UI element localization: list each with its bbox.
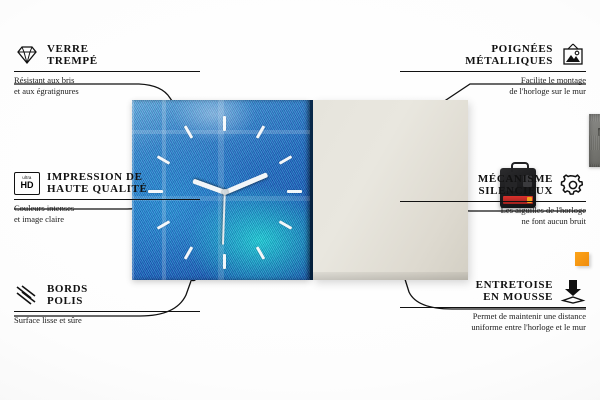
callout-title-line1: BORDS [47,283,88,295]
callout-subtitle-line1: Facilite le montage [521,75,586,85]
callout-subtitle-line2: et aux égratignures [14,86,79,96]
clock-center-cap [222,189,228,195]
polished-edges-icon [14,282,40,308]
callout-poignees-metalliques: POIGNÉES MÉTALLIQUES Facilite le montage… [400,42,586,96]
callout-title-line1: MÉCANISME [478,173,553,185]
callout-title-line1: ENTRETOISE [476,279,553,291]
hour-marker [157,155,171,165]
callout-title-line2: EN MOUSSE [483,291,553,303]
hour-marker [184,125,194,139]
hour-marker [223,116,226,131]
hour-marker [279,155,293,165]
callout-title-line1: VERRE [47,43,89,55]
callout-bords-polis: BORDS POLIS Surface lisse et sûre [14,282,200,326]
ultra-hd-icon-big-label: HD [21,181,34,190]
clock-minute-hand [224,172,268,195]
diamond-icon [14,42,40,68]
callout-title-line2: MÉTALLIQUES [465,55,553,67]
product-feature-infographic: VERRE TREMPÉ Résistant aux bris et aux é… [0,0,600,400]
callout-title-line2: TREMPÉ [47,55,98,67]
callout-subtitle-line1: Les aiguilles de l'horloge [501,205,586,215]
callout-divider [14,311,200,312]
hour-marker [256,246,266,260]
callout-title-line1: POIGNÉES [491,43,553,55]
callout-subtitle-line1: Surface lisse et sûre [14,315,82,325]
callout-title-line1: IMPRESSION DE [47,171,143,183]
callout-title-line2: POLIS [47,295,83,307]
gear-icon [560,172,586,198]
callout-title-line2: SILENCIEUX [479,185,553,197]
callout-subtitle-line2: et image claire [14,214,64,224]
callout-subtitle-line2: ne font aucun bruit [522,216,586,226]
callout-impression-haute-qualite: ultra HD IMPRESSION DE HAUTE QUALITÉ Cou… [14,170,200,224]
metal-hanging-bracket [589,114,600,167]
ultra-hd-icon: ultra HD [14,170,40,196]
callout-title-line2: HAUTE QUALITÉ [47,183,147,195]
callout-entretoise-en-mousse: ENTRETOISE EN MOUSSE Permet de maintenir… [400,278,586,332]
callout-subtitle-line2: uniforme entre l'horloge et le mur [471,322,586,332]
callout-subtitle-line1: Permet de maintenir une distance [473,311,586,321]
callout-divider [14,71,200,72]
foam-spacer-arrow-icon [560,278,586,304]
picture-hanger-icon [560,42,586,68]
callout-mecanisme-silencieux: MÉCANISME SILENCIEUX Les aiguilles de l'… [400,172,586,226]
callout-divider [400,71,586,72]
mechanism-hanger [511,162,529,172]
callout-subtitle-line1: Résistant aux bris [14,75,74,85]
hour-marker [256,125,266,139]
hour-marker [287,190,302,193]
clock-second-hand [222,193,225,245]
callout-divider [400,307,586,308]
callout-divider [400,201,586,202]
callout-divider [14,199,200,200]
callout-subtitle-line2: de l'horloge sur le mur [509,86,586,96]
hour-marker [223,254,226,269]
callout-subtitle-line1: Couleurs intenses [14,203,74,213]
hour-marker [279,220,293,230]
foam-spacer [575,252,589,266]
callout-verre-trempe: VERRE TREMPÉ Résistant aux bris et aux é… [14,42,200,96]
hour-marker [184,246,194,260]
